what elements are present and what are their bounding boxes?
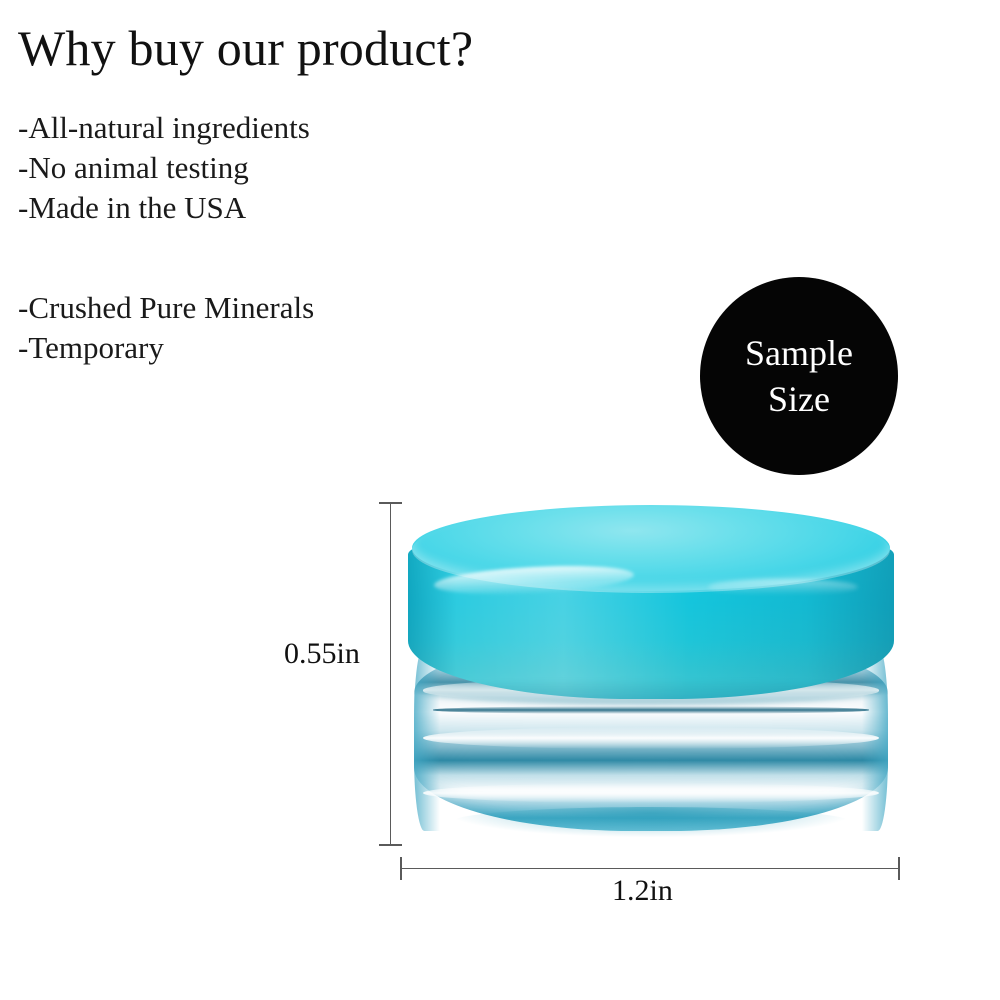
benefit-item: -All-natural ingredients	[18, 108, 310, 148]
jar-teal-lid	[408, 505, 894, 705]
cosmetic-jar-image	[408, 505, 894, 831]
jar-base-bottom-shading	[452, 807, 850, 837]
sample-size-badge: Sample Size	[700, 277, 898, 475]
benefit-item: -Made in the USA	[18, 188, 310, 228]
benefit-item: -Temporary	[18, 328, 314, 368]
jar-base-highlight-band	[423, 727, 878, 749]
jar-lid-gloss-highlight	[708, 579, 858, 595]
width-dimension-cap-right	[898, 857, 900, 880]
height-dimension-label: 0.55in	[284, 637, 360, 671]
page-title: Why buy our product?	[18, 22, 473, 75]
benefit-list-primary: -All-natural ingredients -No animal test…	[18, 108, 310, 228]
benefit-item: -Crushed Pure Minerals	[18, 288, 314, 328]
jar-base-dark-band	[433, 706, 869, 713]
sample-size-badge-line-2: Size	[768, 376, 830, 422]
width-dimension-label: 1.2in	[612, 874, 673, 908]
benefit-list-secondary: -Crushed Pure Minerals -Temporary	[18, 288, 314, 368]
product-info-graphic: Why buy our product? -All-natural ingred…	[0, 0, 1000, 1000]
jar-base-highlight-band	[423, 783, 878, 803]
width-dimension-line	[400, 868, 900, 869]
product-photo-area	[270, 490, 970, 920]
height-dimension-cap-bottom	[379, 844, 402, 846]
width-dimension-cap-left	[400, 857, 402, 880]
height-dimension-line	[390, 502, 391, 846]
jar-lid-bottom-shadow	[418, 679, 884, 705]
height-dimension-cap-top	[379, 502, 402, 504]
benefit-item: -No animal testing	[18, 148, 310, 188]
sample-size-badge-line-1: Sample	[745, 330, 853, 376]
